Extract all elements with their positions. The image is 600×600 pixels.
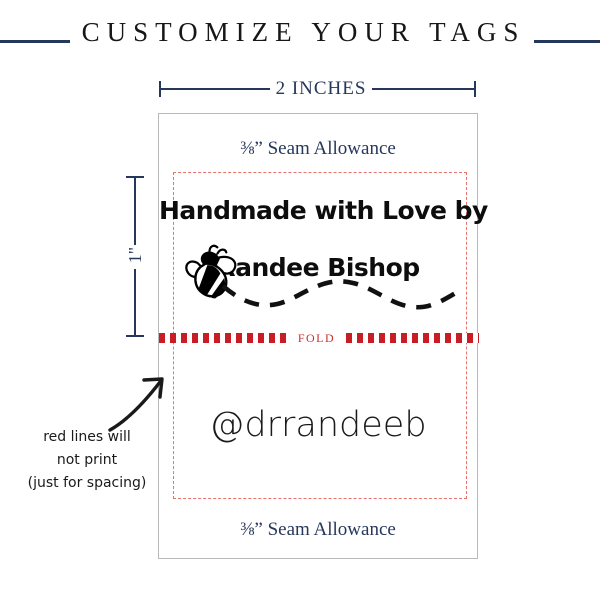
- annotation: red lines will not print (just for spaci…: [12, 368, 177, 508]
- width-dimension-line-right: [372, 88, 475, 90]
- seam-allowance-label-bottom: ⅜” Seam Allowance: [159, 519, 477, 541]
- height-dimension: 1": [118, 172, 158, 342]
- annotation-text: red lines will not print (just for spaci…: [12, 426, 162, 495]
- width-dimension-cap-right: [474, 81, 476, 97]
- annotation-line-2: not print: [12, 449, 162, 472]
- width-dimension: 2 INCHES: [150, 72, 485, 106]
- curved-arrow-icon: [108, 368, 178, 434]
- fold-dashes-right: [346, 333, 479, 343]
- page-title: CUSTOMIZE YOUR TAGS: [0, 10, 600, 54]
- annotation-line-3: (just for spacing): [12, 472, 162, 495]
- tag-preview-card[interactable]: ⅜” Seam Allowance Handmade with Love by …: [158, 113, 478, 559]
- width-dimension-line-left: [160, 88, 270, 90]
- seam-allowance-label-top: ⅜” Seam Allowance: [159, 138, 477, 160]
- fold-line: FOLD: [159, 333, 479, 343]
- bee-artwork: [167, 239, 472, 324]
- height-dimension-line-bottom: [134, 269, 136, 337]
- height-dimension-cap-bottom: [126, 335, 144, 337]
- header: CUSTOMIZE YOUR TAGS: [0, 10, 600, 54]
- tag-text-handle[interactable]: @drrandeeb: [159, 405, 477, 445]
- fold-dashes-left: [159, 333, 287, 343]
- dashed-flight-trail-icon: [223, 281, 459, 307]
- width-dimension-label: 2 INCHES: [268, 72, 374, 106]
- tag-text-line-1[interactable]: Handmade with Love by: [159, 196, 477, 225]
- bee-icon: [167, 239, 472, 324]
- annotation-line-1: red lines will: [12, 426, 162, 449]
- tag-designer-canvas: CUSTOMIZE YOUR TAGS 2 INCHES 1" ⅜” Seam …: [0, 0, 600, 600]
- fold-label: FOLD: [287, 331, 346, 345]
